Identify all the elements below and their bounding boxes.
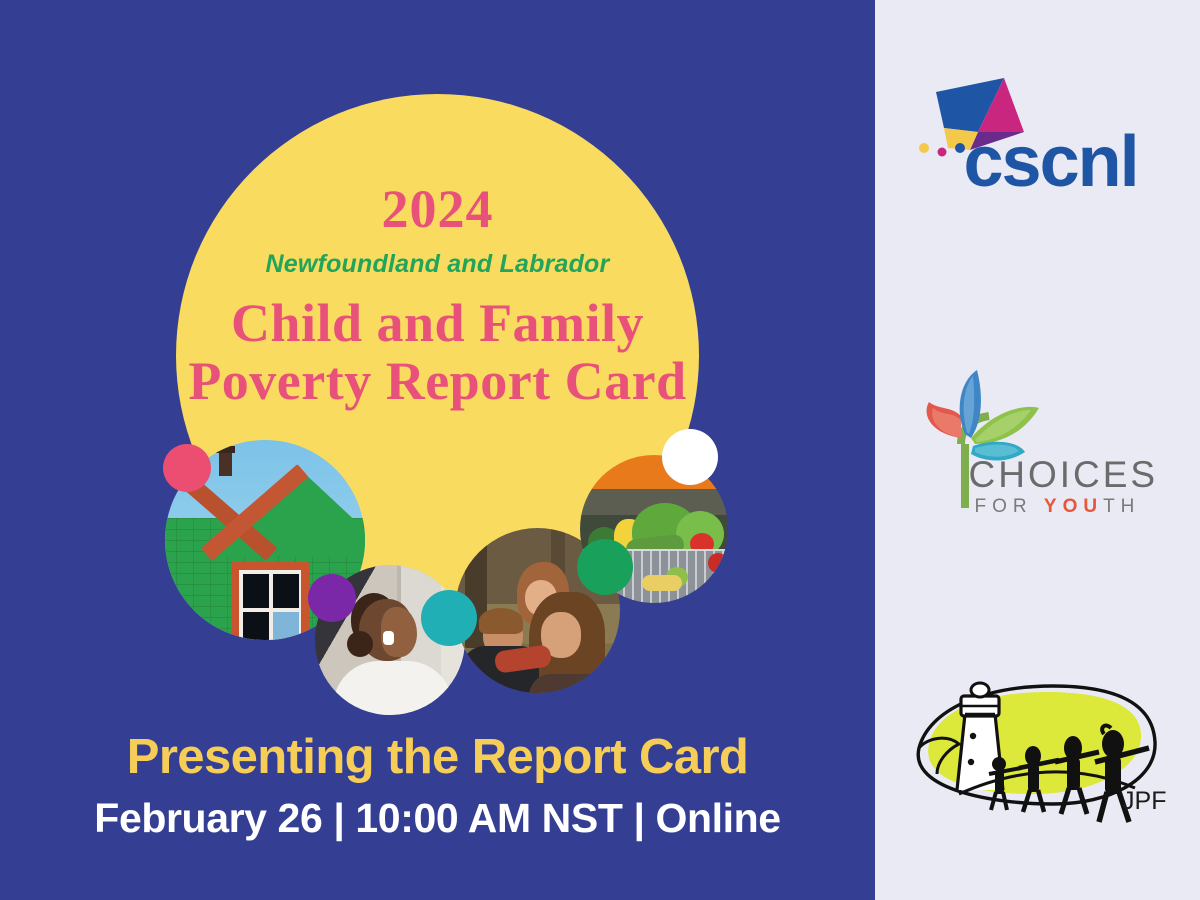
house-window-pane bbox=[243, 574, 269, 608]
choices-tagline: FOR YOUTH bbox=[975, 496, 1141, 518]
poster-left-panel: 2024 Newfoundland and Labrador Child and… bbox=[0, 0, 875, 900]
event-headline: Presenting the Report Card bbox=[0, 729, 875, 785]
jpf-wordmark: JPF bbox=[1122, 787, 1166, 816]
poster-logo-sidebar: cscnl CHOICES FOR YOUTH bbox=[875, 0, 1200, 900]
girl-earbud bbox=[383, 631, 394, 645]
pink-dot bbox=[163, 444, 211, 492]
event-details: February 26 | 10:00 AM NST | Online bbox=[0, 795, 875, 842]
choices-for-youth-logo: CHOICES FOR YOUTH bbox=[903, 360, 1173, 530]
teal-dot bbox=[421, 590, 477, 646]
family-mother-coat bbox=[529, 674, 620, 693]
cscnl-wordmark: cscnl bbox=[964, 126, 1138, 198]
choices-tagline-th: TH bbox=[1103, 496, 1140, 517]
corn bbox=[642, 575, 682, 591]
house-chimney-cap bbox=[216, 446, 235, 453]
green-dot bbox=[577, 539, 633, 595]
purple-dot bbox=[308, 574, 356, 622]
choices-tagline-you: YOU bbox=[1044, 496, 1103, 517]
event-poster: 2024 Newfoundland and Labrador Child and… bbox=[0, 0, 1200, 900]
family-boy-hair bbox=[479, 608, 523, 634]
tomato bbox=[708, 553, 728, 573]
white-dot bbox=[662, 429, 718, 485]
jpf-logo: JPF bbox=[903, 670, 1173, 830]
choices-wordmark: CHOICES bbox=[969, 456, 1159, 493]
choices-tagline-for: FOR bbox=[975, 496, 1044, 517]
house-chimney bbox=[219, 450, 232, 476]
event-info-block: Presenting the Report Card February 26 |… bbox=[0, 729, 875, 842]
house-window-pane bbox=[273, 574, 299, 608]
house-window-pane bbox=[273, 612, 299, 640]
house-window-pane bbox=[243, 612, 269, 640]
girl-hair-bun bbox=[347, 631, 373, 657]
cscnl-logo: cscnl bbox=[908, 70, 1168, 220]
